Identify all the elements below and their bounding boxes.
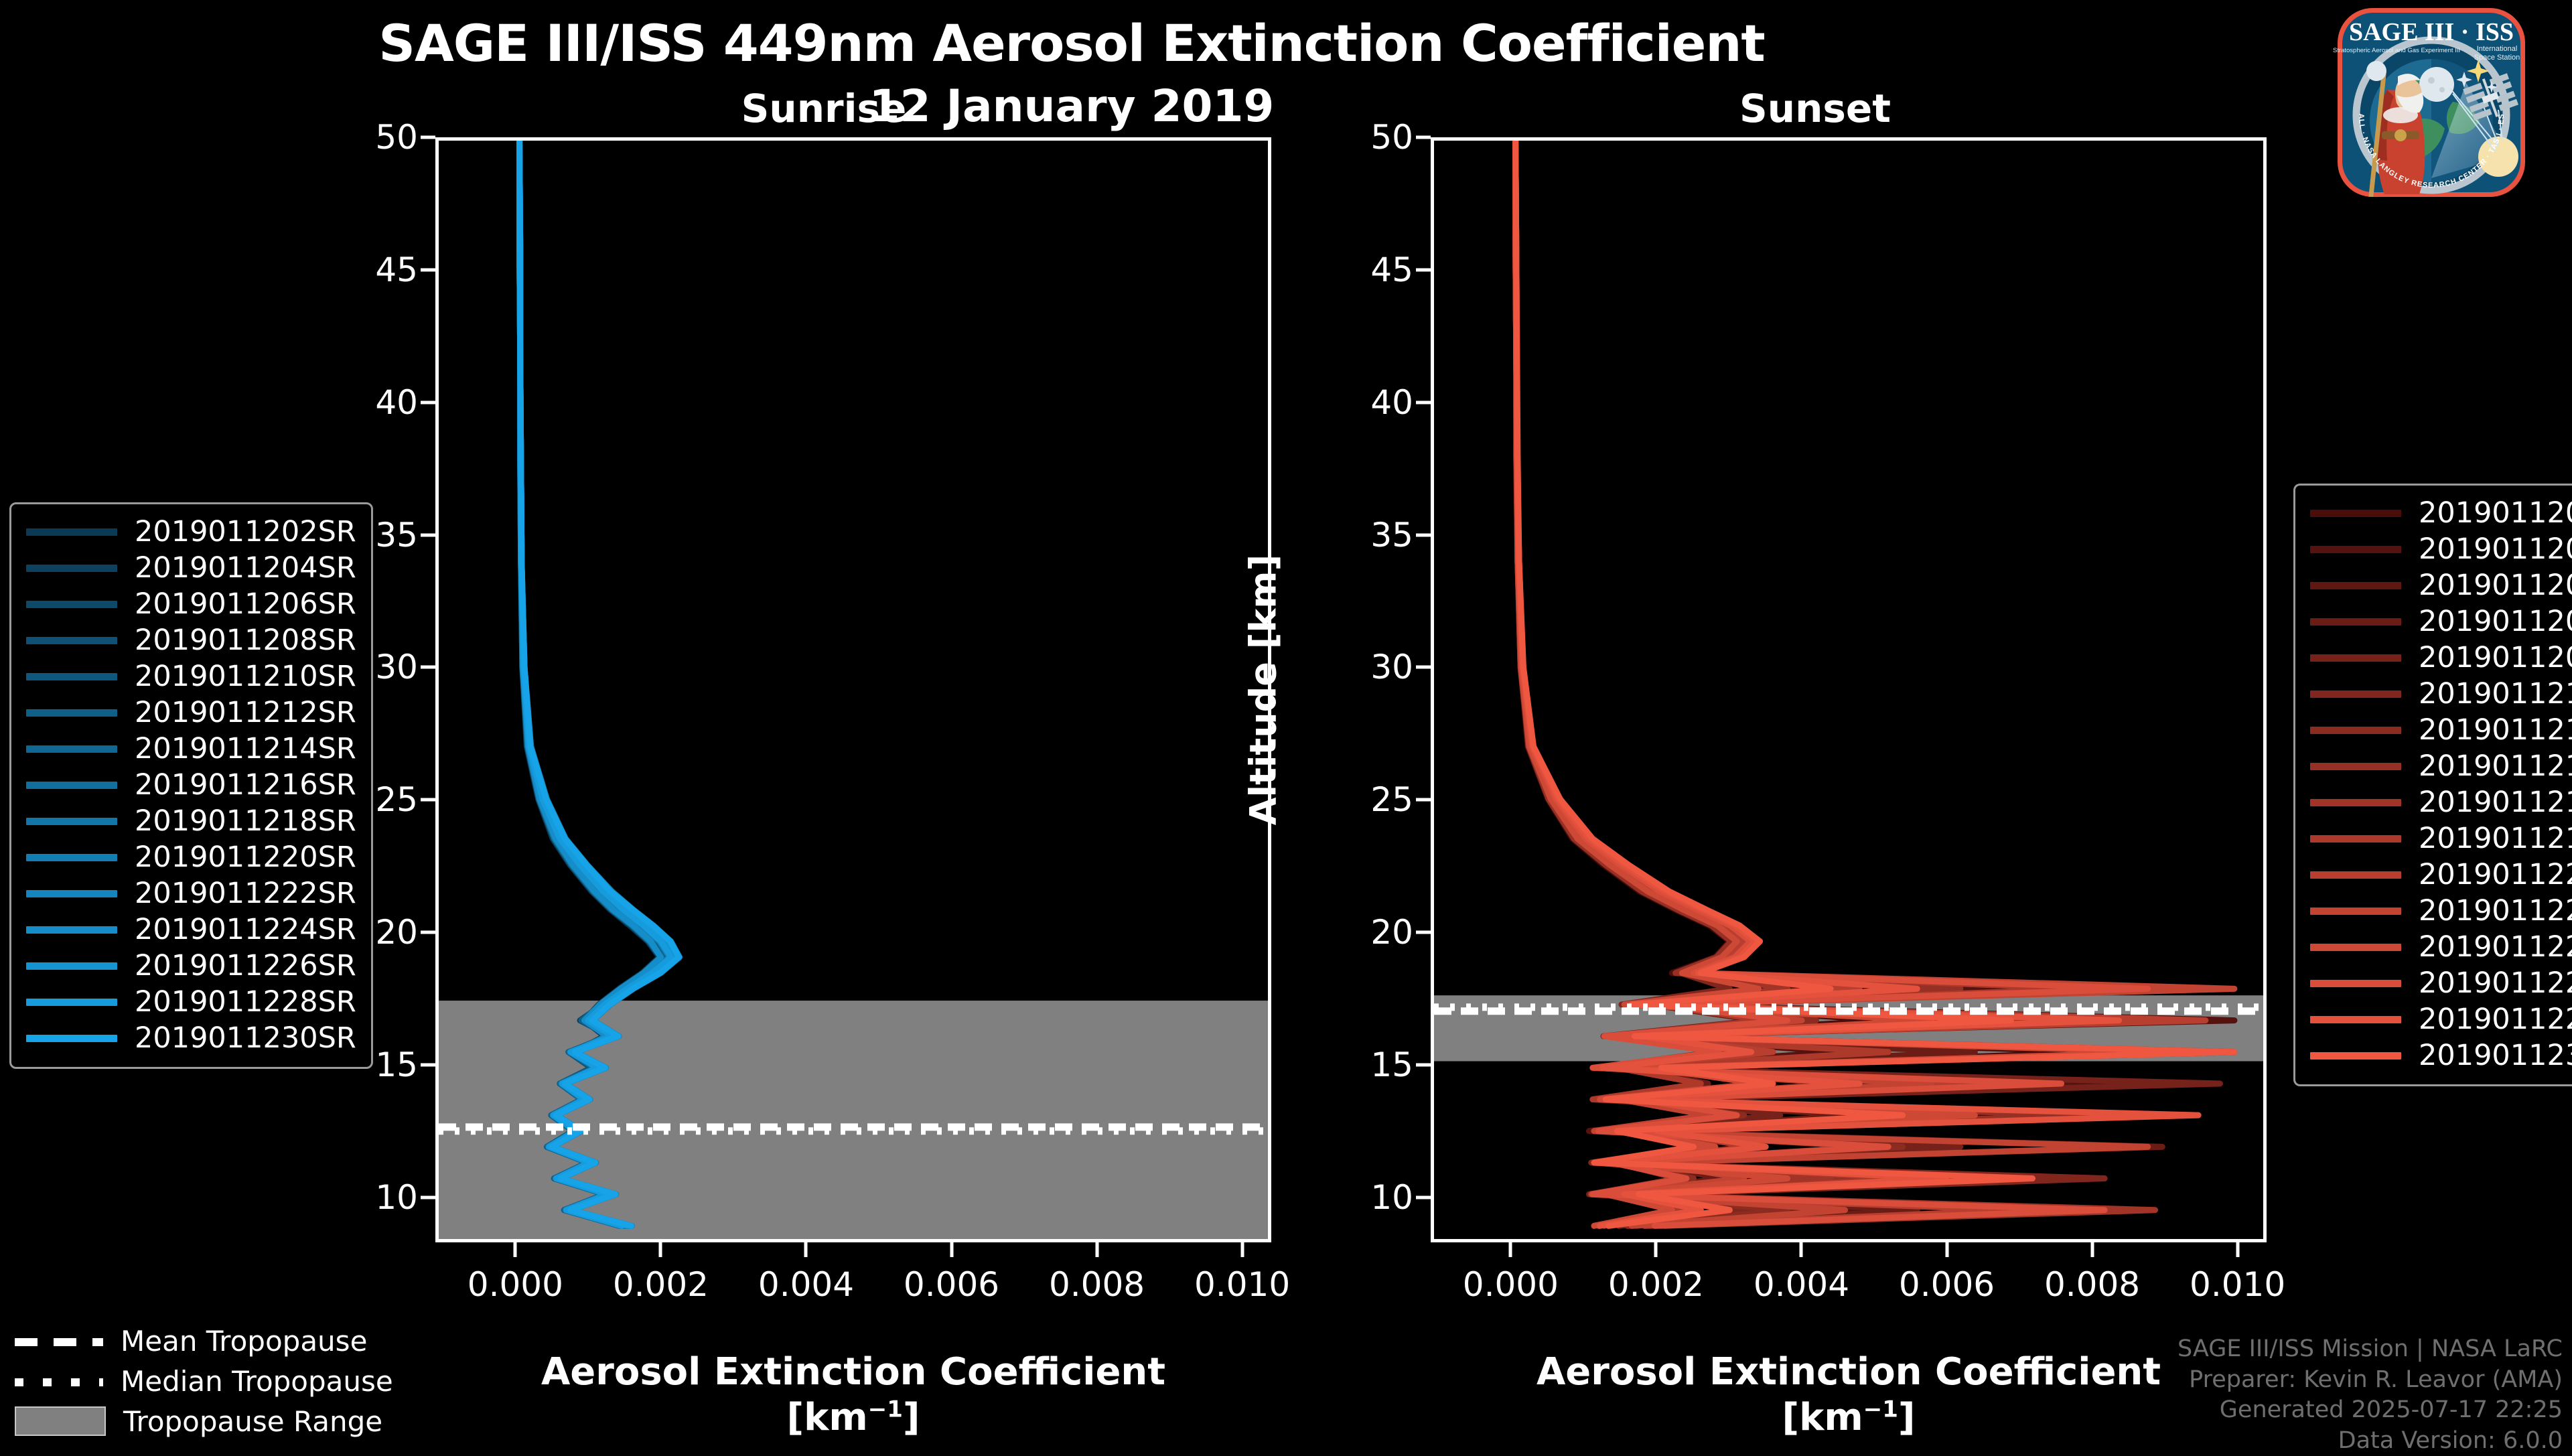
x-axis-unit-sunrise: [km−1] <box>435 1395 1271 1441</box>
legend-item-label: 2019011207SS <box>2419 605 2572 638</box>
logo-subtitle-right-1: International <box>2477 45 2518 53</box>
x-axis-title-text-sunrise: Aerosol Extinction Coefficient <box>435 1350 1271 1395</box>
legend-item-label: 2019011217SS <box>2419 786 2572 819</box>
y-axis-tick-label: 20 <box>1370 913 1413 952</box>
legend-color-swatch <box>2310 763 2401 770</box>
sunset-legend-item[interactable]: 2019011205SS <box>2310 567 2572 603</box>
sunset-legend-item[interactable]: 2019011217SS <box>2310 784 2572 820</box>
logo-title: SAGE III · ISS <box>2349 18 2514 46</box>
x-axis-title-text-sunset: Aerosol Extinction Coefficient <box>1431 1350 2267 1395</box>
y-axis-tick-label: 25 <box>1370 780 1413 819</box>
legend-color-swatch <box>26 999 117 1006</box>
legend-item-label: 2019011220SR <box>135 841 356 874</box>
legend-item-label: 2019011208SR <box>135 624 356 657</box>
y-axis-tick <box>1416 136 1431 139</box>
sage-iii-iss-mission-patch-logo: BALL · NASA LANGLEY RESEARCH CENTER · TA… <box>2297 3 2565 197</box>
legend-color-swatch <box>2310 799 2401 806</box>
legend-item-label: 2019011231SS <box>2419 1039 2572 1072</box>
credits-line: Preparer: Kevin R. Leavor (AMA) <box>2177 1365 2563 1396</box>
sunset-legend-item[interactable]: 2019011211SS <box>2310 676 2572 712</box>
y-axis-tick-label: 50 <box>1370 118 1413 157</box>
tropopause-legend-label: Mean Tropopause <box>121 1325 367 1358</box>
legend-color-swatch <box>26 528 117 536</box>
sunrise-legend-item[interactable]: 2019011216SR <box>26 767 356 803</box>
legend-color-swatch <box>26 818 117 825</box>
tropopause-legend-item[interactable]: Mean Tropopause <box>15 1321 393 1361</box>
sunset-legend-item[interactable]: 2019011215SS <box>2310 748 2572 784</box>
legend-item-label: 2019011201SS <box>2419 496 2572 530</box>
sunset-legend-item[interactable]: 2019011221SS <box>2310 857 2572 893</box>
y-axis-tick <box>421 136 435 139</box>
x-axis-tick <box>1800 1242 1803 1257</box>
sunrise-legend-item[interactable]: 2019011228SR <box>26 984 356 1020</box>
sunrise-legend-item[interactable]: 2019011206SR <box>26 586 356 622</box>
x-axis-tick <box>1240 1242 1244 1257</box>
y-axis-tick-label: 35 <box>375 516 418 555</box>
y-axis-tick <box>1416 1063 1431 1066</box>
y-axis-tick-label: 35 <box>1370 516 1413 555</box>
legend-item-label: 2019011216SR <box>135 768 356 802</box>
page-title: SAGE III/ISS 449nm Aerosol Extinction Co… <box>0 13 2143 73</box>
y-axis-tick <box>421 401 435 404</box>
y-axis-tick <box>421 931 435 934</box>
credits-block: SAGE III/ISS Mission | NASA LaRCPreparer… <box>2177 1334 2563 1456</box>
sunrise-legend-item[interactable]: 2019011220SR <box>26 839 356 875</box>
legend-item-label: 2019011223SS <box>2419 894 2572 928</box>
legend-item-label: 2019011214SR <box>135 732 356 766</box>
tropopause-legend[interactable]: Mean TropopauseMedian TropopauseTropopau… <box>15 1321 393 1441</box>
legend-color-swatch <box>2310 1052 2401 1060</box>
y-axis-tick-label: 10 <box>375 1178 418 1217</box>
sunset-legend-item[interactable]: 2019011213SS <box>2310 712 2572 748</box>
x-axis-tick-label: 0.000 <box>1463 1265 1559 1304</box>
y-axis-tick <box>421 1195 435 1199</box>
sunset-legend-item[interactable]: 2019011203SS <box>2310 531 2572 567</box>
sunrise-legend-item[interactable]: 2019011212SR <box>26 695 356 731</box>
x-axis-tick <box>1095 1242 1098 1257</box>
sunrise-legend-item[interactable]: 2019011222SR <box>26 875 356 912</box>
legend-item-label: 2019011213SS <box>2419 713 2572 747</box>
legend-item-label: 2019011205SS <box>2419 569 2572 602</box>
legend-color-swatch <box>2310 690 2401 698</box>
median-tropopause-swatch <box>15 1372 103 1390</box>
legend-item-label: 2019011226SR <box>135 949 356 982</box>
tropopause-legend-item[interactable]: Tropopause Range <box>15 1401 393 1441</box>
sunset-legend-item[interactable]: 2019011201SS <box>2310 495 2572 531</box>
sunrise-legend-item[interactable]: 2019011226SR <box>26 948 356 984</box>
legend-item-label: 2019011211SS <box>2419 677 2572 711</box>
sunset-legend-item[interactable]: 2019011229SS <box>2310 1001 2572 1037</box>
legend-item-label: 2019011202SR <box>135 515 356 549</box>
legend-color-swatch <box>26 926 117 934</box>
legend-color-swatch <box>2310 582 2401 589</box>
tropopause-legend-item[interactable]: Median Tropopause <box>15 1361 393 1401</box>
legend-item-label: 2019011225SS <box>2419 930 2572 964</box>
x-axis-tick-label: 0.008 <box>1049 1265 1145 1304</box>
x-axis-tick-label: 0.000 <box>468 1265 563 1304</box>
legend-item-label: 2019011227SS <box>2419 966 2572 1000</box>
sunrise-legend-item[interactable]: 2019011202SR <box>26 514 356 550</box>
sunrise-series-legend[interactable]: 2019011202SR2019011204SR2019011206SR2019… <box>9 502 373 1069</box>
x-axis-tick <box>950 1242 953 1257</box>
sunrise-legend-item[interactable]: 2019011230SR <box>26 1020 356 1056</box>
credits-line: SAGE III/ISS Mission | NASA LaRC <box>2177 1334 2563 1365</box>
legend-item-label: 2019011212SR <box>135 696 356 729</box>
x-axis-tick <box>1509 1242 1512 1257</box>
x-axis-tick-label: 0.008 <box>2044 1265 2140 1304</box>
sunrise-plot-area[interactable] <box>435 137 1271 1242</box>
y-axis-tick-label: 20 <box>375 913 418 952</box>
legend-color-swatch <box>26 890 117 897</box>
legend-color-swatch <box>26 962 117 970</box>
legend-item-label: 2019011209SS <box>2419 641 2572 674</box>
x-axis-unit-sunset: [km−1] <box>1431 1395 2267 1441</box>
y-axis-tick <box>1416 401 1431 404</box>
logo-subtitle-left: Stratospheric Aerosol and Gas Experiment… <box>2333 47 2460 54</box>
x-axis-title-sunrise: Aerosol Extinction Coefficient [km−1] <box>435 1350 1271 1441</box>
x-axis-tick <box>2236 1242 2239 1257</box>
legend-color-swatch <box>2310 510 2401 517</box>
y-axis-tick-label: 25 <box>375 780 418 819</box>
legend-item-label: 2019011206SR <box>135 587 356 621</box>
x-axis-tick <box>514 1242 517 1257</box>
x-axis-tick <box>1945 1242 1948 1257</box>
legend-item-label: 2019011218SR <box>135 804 356 838</box>
y-axis-tick-label: 40 <box>1370 383 1413 422</box>
legend-item-label: 2019011219SS <box>2419 822 2572 855</box>
legend-item-label: 2019011229SS <box>2419 1003 2572 1036</box>
y-axis-tick <box>1416 268 1431 271</box>
sunrise-panel: Altitude [km] Aerosol Extinction Coeffic… <box>435 137 1271 1242</box>
x-axis-tick <box>2090 1242 2094 1257</box>
y-axis-tick <box>421 268 435 271</box>
y-axis-tick-label: 30 <box>1370 648 1413 686</box>
tropopause-legend-label: Tropopause Range <box>123 1405 382 1438</box>
x-axis-tick-label: 0.004 <box>758 1265 854 1304</box>
x-axis-tick-label: 0.002 <box>1608 1265 1704 1304</box>
x-axis-tick-label: 0.004 <box>1754 1265 1849 1304</box>
x-axis-tick-label: 0.010 <box>1194 1265 1290 1304</box>
legend-item-label: 2019011203SS <box>2419 532 2572 566</box>
y-axis-tick <box>421 1063 435 1066</box>
legend-item-label: 2019011215SS <box>2419 749 2572 783</box>
credits-line: Generated 2025-07-17 22:25 <box>2177 1395 2563 1426</box>
sunset-legend-item[interactable]: 2019011207SS <box>2310 603 2572 640</box>
tropopause-range-swatch <box>15 1406 106 1436</box>
y-axis-tick-label: 40 <box>375 383 418 422</box>
y-axis-tick-label: 30 <box>375 648 418 686</box>
legend-color-swatch <box>2310 980 2401 987</box>
legend-color-swatch <box>2310 907 2401 915</box>
y-axis-tick <box>1416 798 1431 802</box>
sunset-panel: Altitude [km] Aerosol Extinction Coeffic… <box>1431 137 2267 1242</box>
logo-subtitle-right-2: Space Station <box>2474 54 2520 62</box>
legend-item-label: 2019011210SR <box>135 660 356 693</box>
x-axis-tick-label: 0.010 <box>2190 1265 2285 1304</box>
y-axis-title-sunset: Altitude [km] <box>1242 555 1285 826</box>
legend-color-swatch <box>26 709 117 717</box>
y-axis-tick-label: 50 <box>375 118 418 157</box>
legend-color-swatch <box>2310 1016 2401 1023</box>
legend-item-label: 2019011230SR <box>135 1021 356 1055</box>
legend-color-swatch <box>26 782 117 789</box>
x-axis-tick <box>804 1242 808 1257</box>
y-axis-tick <box>1416 533 1431 536</box>
y-axis-tick <box>1416 666 1431 669</box>
legend-color-swatch <box>26 565 117 572</box>
y-axis-tick-label: 45 <box>1370 250 1413 289</box>
legend-color-swatch <box>2310 654 2401 662</box>
legend-item-label: 2019011222SR <box>135 877 356 910</box>
x-axis-tick <box>1654 1242 1658 1257</box>
x-axis-tick-label: 0.002 <box>613 1265 709 1304</box>
y-axis-tick <box>421 798 435 802</box>
credits-line: Data Version: 6.0.0 <box>2177 1426 2563 1456</box>
sunrise-panel-label: Sunrise <box>603 86 1045 131</box>
sunset-legend-item[interactable]: 2019011225SS <box>2310 929 2572 965</box>
sunset-legend-item[interactable]: 2019011219SS <box>2310 820 2572 857</box>
legend-color-swatch <box>26 745 117 753</box>
x-axis-tick-label: 0.006 <box>1899 1265 1995 1304</box>
legend-color-swatch <box>26 601 117 608</box>
legend-color-swatch <box>26 673 117 680</box>
y-axis-tick <box>1416 1195 1431 1199</box>
x-axis-title-sunset: Aerosol Extinction Coefficient [km−1] <box>1431 1350 2267 1441</box>
y-axis-tick-label: 15 <box>1370 1045 1413 1084</box>
sunset-plot-area[interactable] <box>1431 137 2267 1242</box>
y-axis-tick-label: 10 <box>1370 1178 1413 1217</box>
y-axis-tick <box>1416 931 1431 934</box>
legend-item-label: 2019011221SS <box>2419 858 2572 891</box>
y-axis-tick <box>421 533 435 536</box>
y-axis-tick-label: 15 <box>375 1045 418 1084</box>
legend-color-swatch <box>26 637 117 644</box>
legend-color-swatch <box>2310 944 2401 951</box>
legend-item-label: 2019011228SR <box>135 985 356 1019</box>
legend-item-label: 2019011224SR <box>135 913 356 946</box>
tropopause-legend-label: Median Tropopause <box>121 1365 393 1398</box>
sunrise-legend-item[interactable]: 2019011208SR <box>26 622 356 658</box>
sunrise-legend-item[interactable]: 2019011218SR <box>26 803 356 839</box>
legend-item-label: 2019011204SR <box>135 551 356 585</box>
sunrise-profile-plot <box>439 141 1268 1239</box>
sunrise-legend-item[interactable]: 2019011224SR <box>26 912 356 948</box>
sunset-legend-item[interactable]: 2019011227SS <box>2310 965 2572 1001</box>
legend-color-swatch <box>2310 871 2401 879</box>
legend-color-swatch <box>26 1035 117 1042</box>
sunset-legend-item[interactable]: 2019011209SS <box>2310 640 2572 676</box>
x-axis-tick <box>659 1242 662 1257</box>
legend-color-swatch <box>2310 727 2401 734</box>
mean-tropopause-swatch <box>15 1332 103 1350</box>
x-axis-tick-label: 0.006 <box>904 1265 999 1304</box>
sunrise-legend-item[interactable]: 2019011210SR <box>26 658 356 695</box>
y-axis-tick-label: 45 <box>375 250 418 289</box>
sunset-series-legend[interactable]: 2019011201SS2019011203SS2019011205SS2019… <box>2293 484 2572 1086</box>
legend-color-swatch <box>26 854 117 861</box>
sunrise-legend-item[interactable]: 2019011204SR <box>26 550 356 586</box>
sunrise-legend-item[interactable]: 2019011214SR <box>26 731 356 767</box>
sunset-legend-item[interactable]: 2019011231SS <box>2310 1037 2572 1074</box>
sunset-panel-label: Sunset <box>1594 86 2036 131</box>
legend-color-swatch <box>2310 546 2401 553</box>
sunset-profile-plot <box>1434 141 2263 1239</box>
sunset-legend-item[interactable]: 2019011223SS <box>2310 893 2572 929</box>
y-axis-tick <box>421 666 435 669</box>
legend-color-swatch <box>2310 835 2401 843</box>
legend-color-swatch <box>2310 618 2401 626</box>
